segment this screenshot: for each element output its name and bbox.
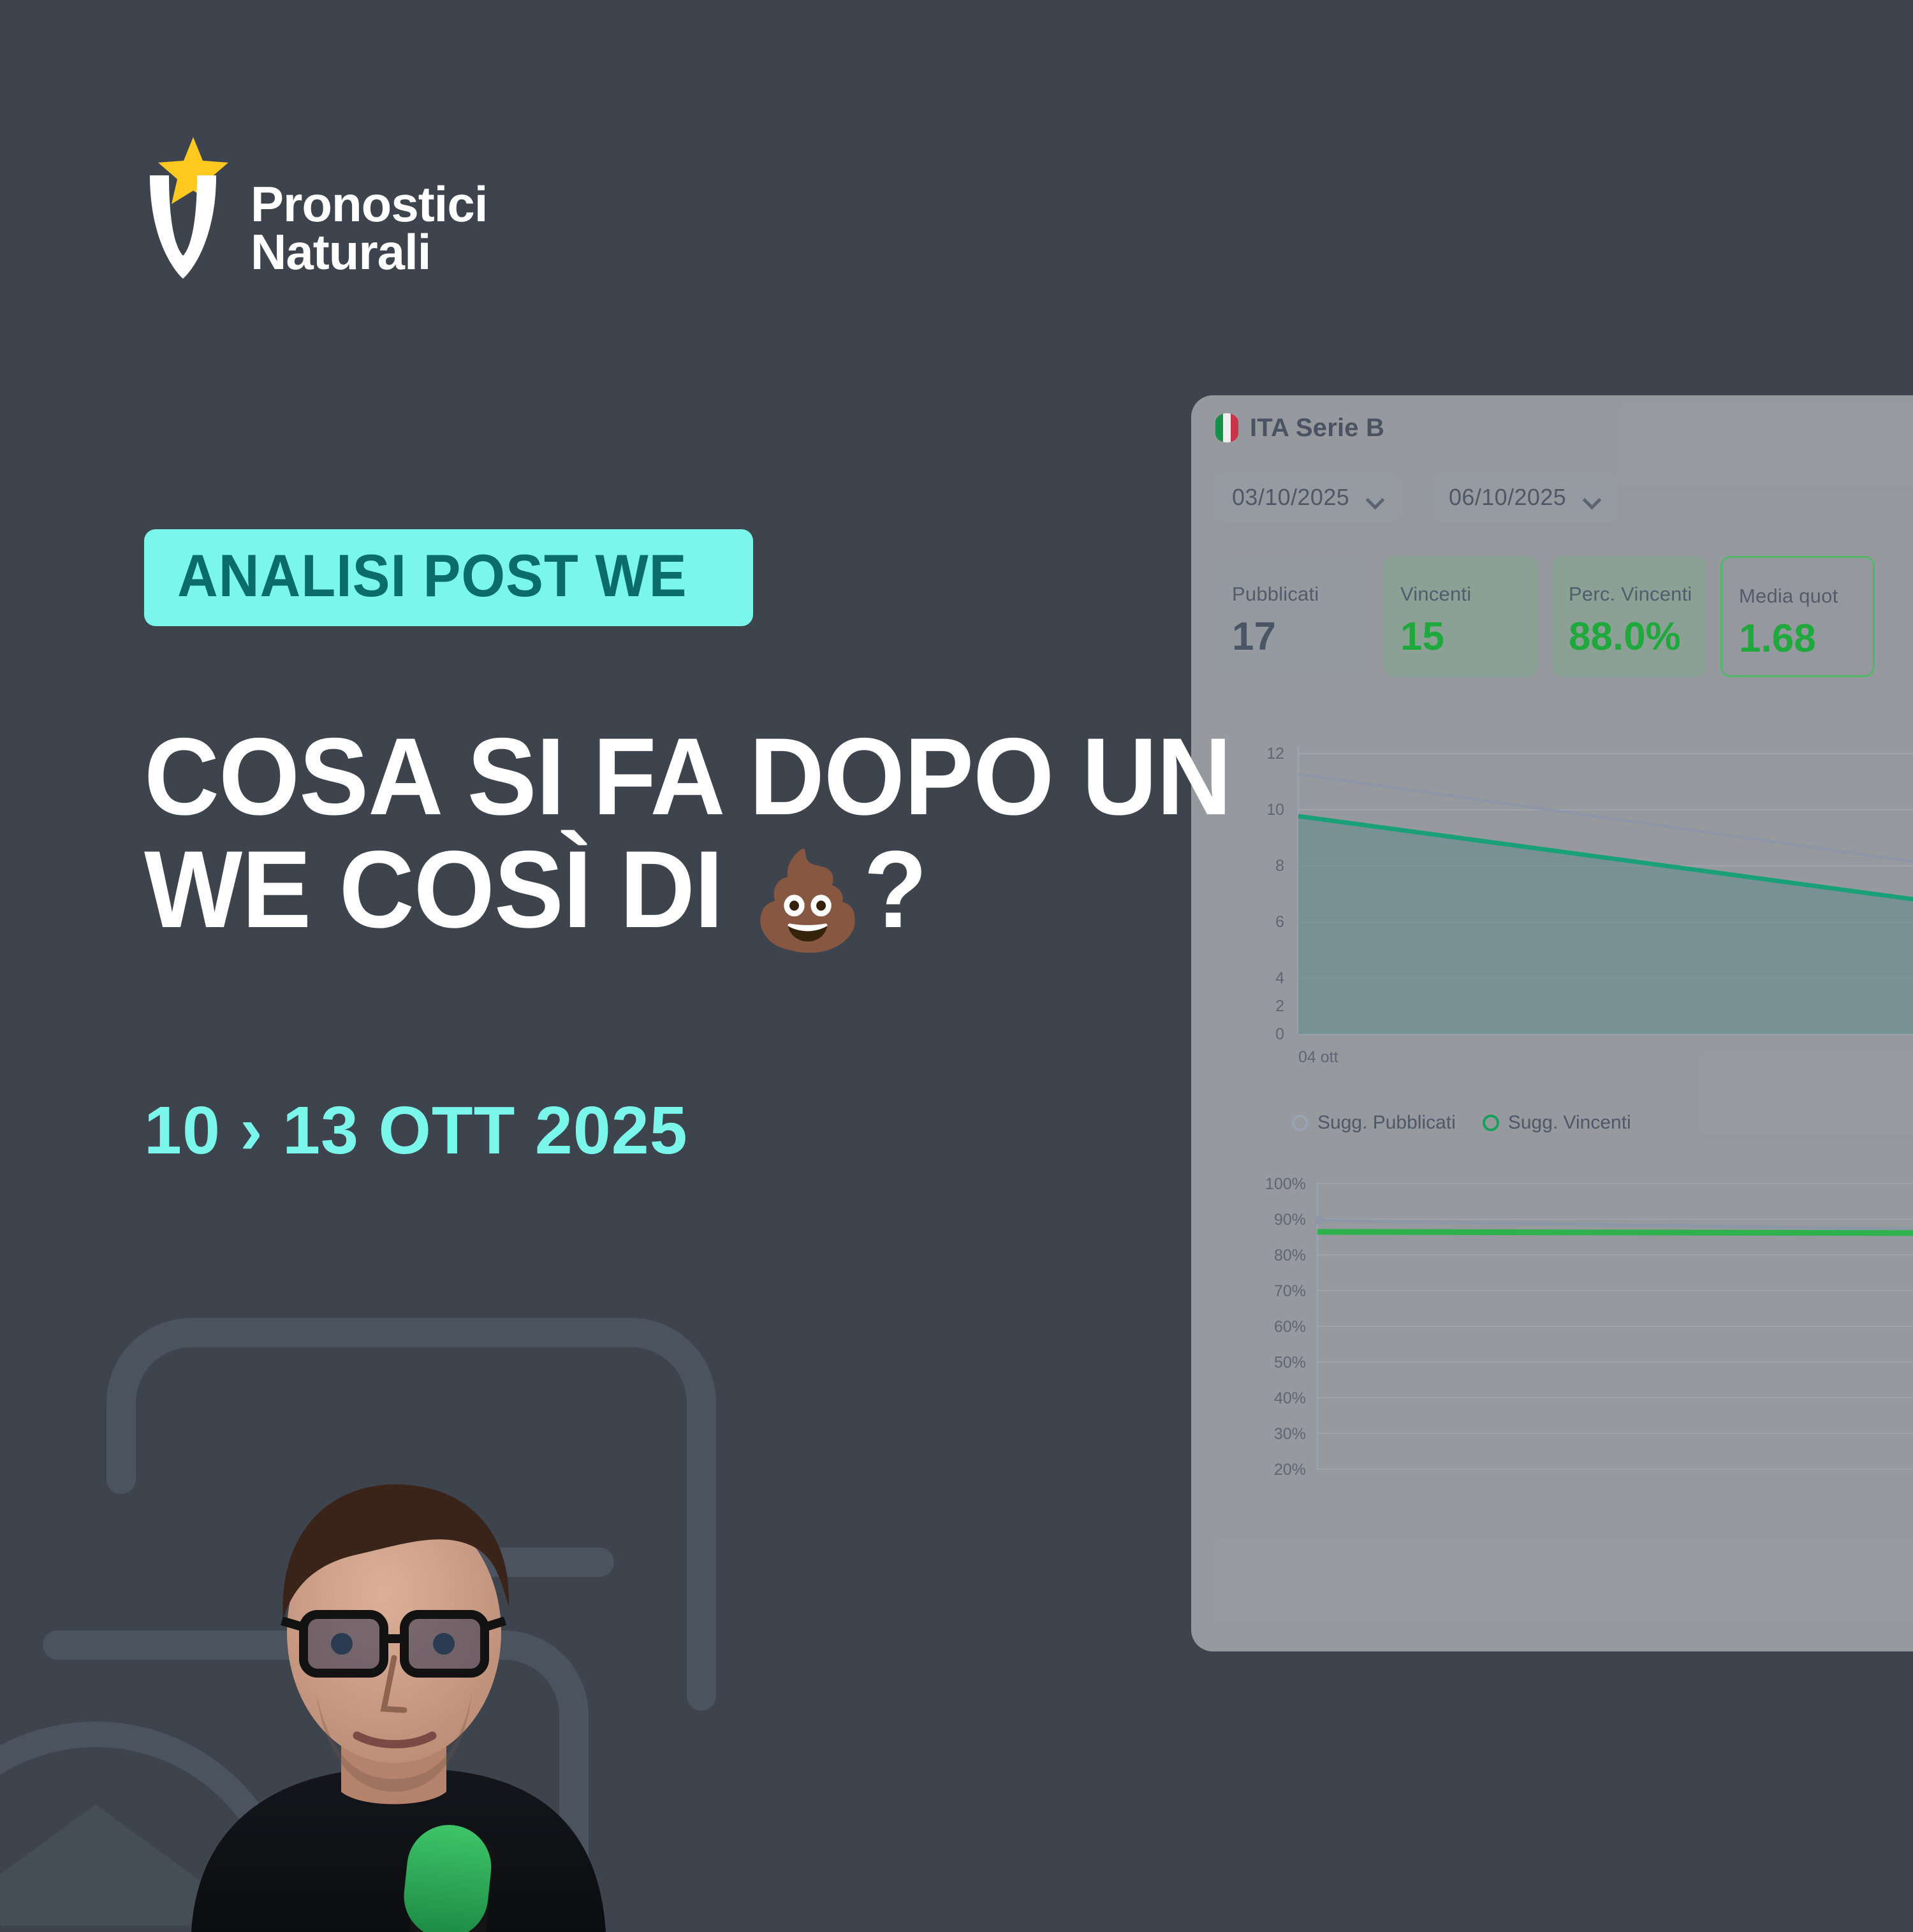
chart-percentuale-line: 100% 90% 80% 70% 60% 50% 40% 30% 20% (1215, 1169, 1913, 1501)
svg-text:60%: 60% (1274, 1318, 1306, 1336)
svg-text:70%: 70% (1274, 1282, 1306, 1300)
stat-value: 88.0% (1569, 617, 1706, 657)
chart-legend: Sugg. Pubblicati Sugg. Vincenti (1292, 1112, 1913, 1134)
svg-text:50%: 50% (1274, 1354, 1306, 1372)
league-name: ITA Serie B (1250, 414, 1384, 443)
stat-card-media-quota: Media quot 1.68 (1720, 556, 1875, 677)
italy-flag-icon (1215, 413, 1238, 443)
presenter-photo (147, 1447, 619, 1932)
legend-label: Sugg. Vincenti (1508, 1112, 1631, 1134)
analysis-badge: ANALISI POST WE (144, 529, 753, 626)
stat-card-vincenti: Vincenti 15 (1384, 556, 1538, 677)
svg-text:4: 4 (1275, 969, 1284, 987)
date-from-select[interactable]: 03/10/2025 (1215, 473, 1400, 522)
chevron-down-icon (1585, 494, 1599, 501)
date-to-value: 06/10/2025 (1449, 484, 1566, 511)
date-from-value: 03/10/2025 (1232, 484, 1349, 511)
page-title: COSA SI FA DOPO UN WE COSÌ DI 💩? (144, 721, 1802, 950)
legend-item-vincenti[interactable]: Sugg. Vincenti (1483, 1112, 1631, 1134)
stat-label: Media quot (1739, 585, 1873, 608)
svg-text:2: 2 (1275, 997, 1284, 1015)
legend-dot-icon (1483, 1115, 1499, 1131)
stat-card-perc-vincenti: Perc. Vincenti 88.0% (1552, 556, 1706, 677)
svg-text:20%: 20% (1274, 1461, 1306, 1479)
svg-text:30%: 30% (1274, 1425, 1306, 1443)
league-header: ITA Serie B (1215, 413, 1913, 443)
stat-label: Perc. Vincenti (1569, 583, 1706, 606)
svg-text:90%: 90% (1274, 1211, 1306, 1229)
stat-value: 1.68 (1739, 619, 1873, 659)
headline-line-2: WE COSÌ DI 💩? (144, 833, 1719, 950)
legend-label: Sugg. Pubblicati (1317, 1112, 1456, 1134)
svg-text:80%: 80% (1274, 1247, 1306, 1264)
svg-text:100%: 100% (1265, 1175, 1306, 1193)
dashboard-panel: ITA Serie B 03/10/2025 06/10/2025 Pubbli… (1191, 395, 1913, 1651)
date-range-label: 10 › 13 OTT 2025 (144, 1097, 688, 1164)
headline-line-2-text: WE COSÌ DI (144, 828, 751, 951)
legend-dot-icon (1292, 1115, 1308, 1131)
date-filter-row: 03/10/2025 06/10/2025 (1215, 473, 1913, 522)
stat-label: Pubblicati (1232, 583, 1370, 606)
stat-label: Vincenti (1400, 583, 1538, 606)
svg-text:40%: 40% (1274, 1389, 1306, 1407)
svg-text:04 ott: 04 ott (1298, 1048, 1338, 1066)
stats-row: Pubblicati 17 Vincenti 15 Perc. Vincenti… (1215, 556, 1913, 677)
headline-line-1: COSA SI FA DOPO UN (144, 721, 1719, 833)
stat-card-pubblicati: Pubblicati 17 (1215, 556, 1370, 677)
brand-logo: Pronostici Naturali (143, 137, 487, 284)
poop-emoji-icon: 💩 (751, 847, 863, 954)
logo-line-1: Pronostici (251, 180, 487, 228)
headline-line-2-suffix: ? (863, 828, 927, 951)
chevron-down-icon (1368, 494, 1382, 501)
date-to-select[interactable]: 06/10/2025 (1432, 473, 1617, 522)
svg-text:0: 0 (1275, 1025, 1284, 1043)
badge-label: ANALISI POST WE (177, 546, 687, 606)
stat-value: 17 (1232, 617, 1370, 657)
stat-value: 15 (1400, 617, 1538, 657)
legend-item-pubblicati[interactable]: Sugg. Pubblicati (1292, 1112, 1456, 1134)
logo-line-2: Naturali (251, 228, 487, 276)
